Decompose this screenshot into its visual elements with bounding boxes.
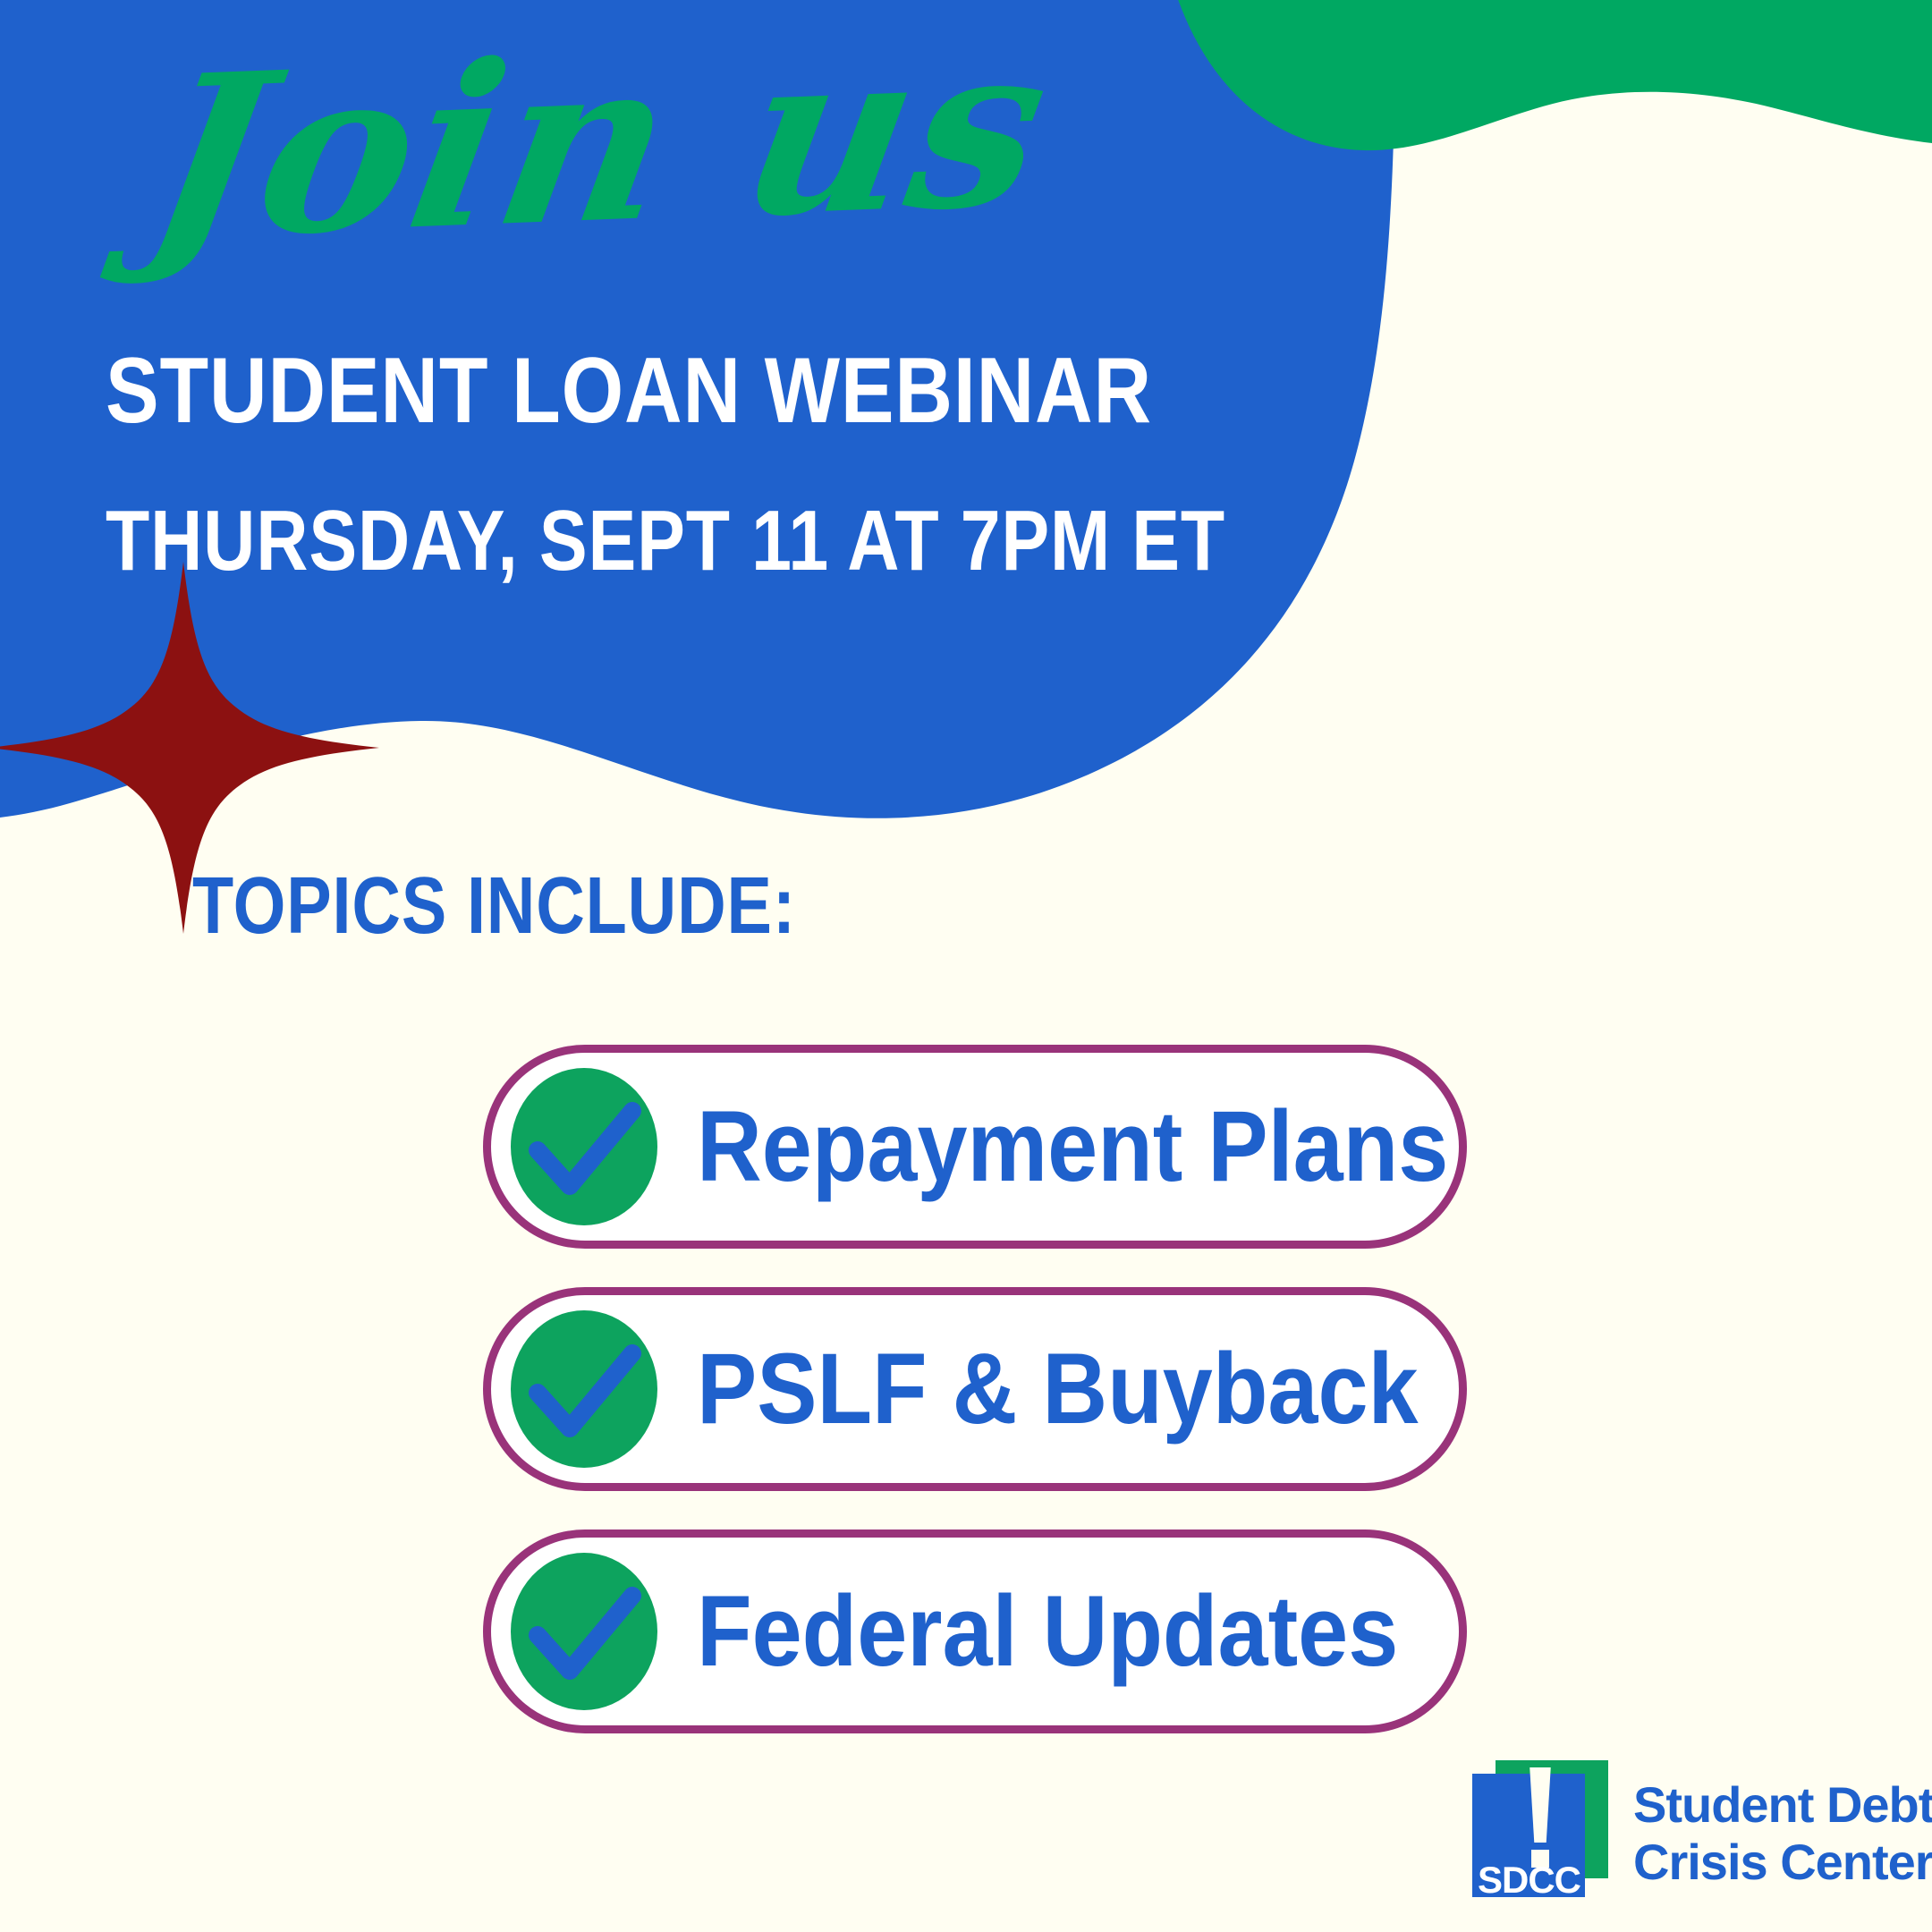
- topic-pill-federal-updates: Federal Updates: [483, 1529, 1467, 1733]
- organization-name-line1: Student Debt: [1633, 1776, 1932, 1834]
- organization-name-line2: Crisis Center: [1633, 1834, 1932, 1891]
- green-blob-shape: [1154, 0, 1932, 150]
- topics-list: Repayment Plans PSLF & Buyback Federal U…: [483, 1045, 1467, 1733]
- organization-name: Student Debt Crisis Center: [1633, 1776, 1932, 1892]
- topic-pill-repayment-plans: Repayment Plans: [483, 1045, 1467, 1249]
- topic-label: Repayment Plans: [697, 1097, 1448, 1197]
- organization-logo: SDCC Student Debt Crisis Center: [1472, 1760, 1893, 1903]
- topic-label: PSLF & Buyback: [697, 1339, 1419, 1439]
- event-datetime: THURSDAY, SEPT 11 AT 7PM ET: [106, 498, 1173, 584]
- topic-label: Federal Updates: [697, 1581, 1398, 1682]
- page-title: STUDENT LOAN WEBINAR: [106, 344, 1198, 437]
- topic-pill-pslf-buyback: PSLF & Buyback: [483, 1287, 1467, 1491]
- sdcc-logo-mark: SDCC: [1472, 1760, 1614, 1903]
- topics-heading: TOPICS INCLUDE:: [192, 866, 796, 946]
- check-icon: [511, 1068, 657, 1225]
- webinar-promo-poster: Join us STUDENT LOAN WEBINAR THURSDAY, S…: [0, 0, 1932, 1932]
- check-icon: [511, 1553, 657, 1710]
- logo-acronym: SDCC: [1478, 1861, 1580, 1899]
- check-icon: [511, 1310, 657, 1468]
- script-eyebrow: Join us: [136, 13, 1063, 270]
- headline-block: STUDENT LOAN WEBINAR THURSDAY, SEPT 11 A…: [106, 344, 1376, 584]
